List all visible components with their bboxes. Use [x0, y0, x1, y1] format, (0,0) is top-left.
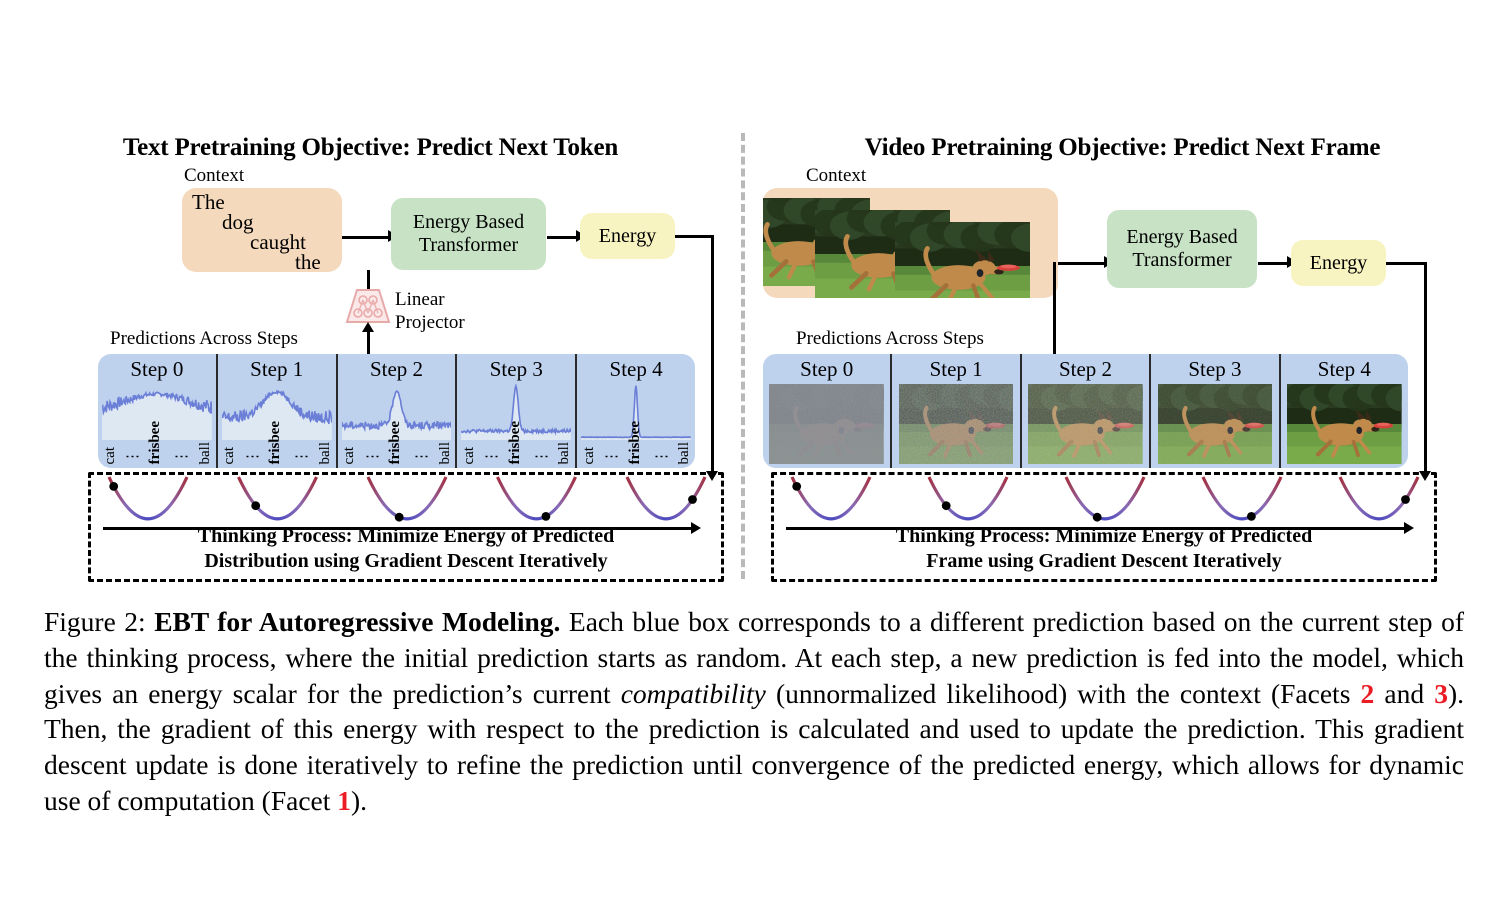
panel-video-pretraining: Video Pretraining Objective: Predict Nex… [741, 0, 1504, 590]
caption-prefix: Figure 2: [44, 606, 154, 637]
text-energy-descent-dot-2 [395, 513, 404, 522]
token-label-1-4: ball [317, 442, 334, 465]
predictions-label-video: Predictions Across Steps [796, 328, 984, 350]
step-box-text-2[interactable]: Step 2cat⋮frisbee⋮ball [336, 354, 456, 468]
token-axis-labels-1: cat⋮frisbee⋮ball [218, 410, 336, 466]
predicted-frame-1 [899, 384, 1014, 464]
steps-to-projector-head [362, 322, 374, 332]
token-axis-labels-4: cat⋮frisbee⋮ball [577, 410, 695, 466]
context-token-0: The [192, 190, 225, 215]
step-box-text-1[interactable]: Step 1cat⋮frisbee⋮ball [216, 354, 336, 468]
step-title-text-3: Step 3 [457, 357, 575, 382]
arrow-context-to-model-line [342, 236, 390, 239]
step-box-video-1[interactable]: Step 1 [890, 354, 1019, 468]
thinking-line-1: Thinking Process: Minimize Energy of Pre… [91, 524, 721, 548]
energy-feedback-h-video [1386, 262, 1426, 265]
projector-label-line-1: Linear [395, 289, 445, 311]
caption-body-3: and [1374, 678, 1434, 709]
step-title-text-1: Step 1 [218, 357, 336, 382]
token-label-2-0: cat [341, 447, 358, 464]
steps-to-model-line-video [1053, 262, 1056, 354]
step-box-video-0[interactable]: Step 0 [763, 354, 890, 468]
token-label-0-0: cat [102, 447, 119, 464]
step-box-video-3[interactable]: Step 3 [1149, 354, 1278, 468]
context-video-frames [763, 188, 1058, 298]
energy-box-label-video: Energy [1310, 252, 1367, 275]
caption-body-5: ). [351, 785, 367, 816]
token-label-1-0: cat [221, 447, 238, 464]
token-axis-labels-2: cat⋮frisbee⋮ball [338, 410, 456, 466]
predicted-frame-0 [769, 384, 884, 464]
token-label-4-3: ⋮ [653, 449, 671, 464]
text-energy-parabola-1 [239, 477, 317, 519]
caption-body-2: (unnormalized likelihood) with the conte… [766, 678, 1361, 709]
video-energy-descent-dot-3 [1247, 512, 1256, 521]
thinking-caption-video: Thinking Process: Minimize Energy of Pre… [774, 524, 1434, 573]
video-energy-parabola-0 [792, 477, 870, 519]
figure-graphic: Text Pretraining Objective: Predict Next… [0, 0, 1504, 590]
step-title-video-3: Step 3 [1151, 357, 1278, 382]
text-energy-descent-dot-4 [688, 495, 697, 504]
context-frame-2 [876, 217, 1049, 298]
token-label-4-2: frisbee [627, 421, 644, 464]
thinking-line-2-video: Frame using Gradient Descent Iteratively [774, 549, 1434, 573]
text-energy-parabola-0 [109, 477, 187, 519]
ebt-line-2-video: Transformer [1126, 249, 1237, 272]
caption-bold-title: EBT for Autoregressive Modeling. [154, 606, 560, 637]
token-axis-labels-0: cat⋮frisbee⋮ball [98, 410, 216, 466]
caption-italic-compatibility: compatibility [621, 678, 766, 709]
text-energy-descent-dot-3 [542, 512, 551, 521]
step-box-text-4[interactable]: Step 4cat⋮frisbee⋮ball [575, 354, 695, 468]
ebt-line-2: Transformer [413, 234, 524, 257]
step-title-video-1: Step 1 [892, 357, 1019, 382]
figure-caption: Figure 2: EBT for Autoregressive Modelin… [44, 604, 1464, 819]
arrow-model-to-energy-line [547, 236, 579, 239]
caption-facet-2: 2 [1361, 678, 1375, 709]
step-title-text-4: Step 4 [577, 357, 695, 382]
caption-facet-3: 3 [1434, 678, 1448, 709]
video-energy-descent-dot-0 [792, 482, 801, 491]
token-label-1-1: ⋮ [244, 449, 262, 464]
energy-feedback-h [675, 235, 713, 238]
step-box-text-0[interactable]: Step 0cat⋮frisbee⋮ball [98, 354, 216, 468]
token-label-2-3: ⋮ [413, 449, 431, 464]
step-title-video-4: Step 4 [1281, 357, 1408, 382]
token-label-0-4: ball [197, 442, 214, 465]
text-energy-parabola-2 [368, 477, 446, 519]
context-box-video [763, 188, 1058, 298]
token-label-2-2: frisbee [387, 421, 404, 464]
ebt-line-1: Energy Based [413, 211, 524, 234]
projector-label-line-2: Projector [395, 312, 465, 334]
thinking-box-video: Thinking Process: Minimize Energy of Pre… [771, 472, 1437, 582]
text-energy-parabola-3 [498, 477, 576, 519]
token-label-4-0: cat [581, 447, 598, 464]
token-label-4-1: ⋮ [603, 449, 621, 464]
predicted-frame-4 [1287, 384, 1402, 464]
panel-text-pretraining: Text Pretraining Objective: Predict Next… [0, 0, 741, 590]
figure-page: Text Pretraining Objective: Predict Next… [0, 0, 1504, 902]
step-box-text-3[interactable]: Step 3cat⋮frisbee⋮ball [455, 354, 575, 468]
steps-strip-text: Step 0cat⋮frisbee⋮ballStep 1cat⋮frisbee⋮… [98, 354, 695, 468]
predicted-frame-3 [1158, 384, 1273, 464]
steps-strip-video: Step 0Step 1Step 2Step 3Step 4 [763, 354, 1408, 468]
thinking-line-2: Distribution using Gradient Descent Iter… [91, 549, 721, 573]
video-energy-descent-dot-2 [1093, 513, 1102, 522]
context-box-text: The dog caught the [182, 188, 342, 272]
video-energy-descent-dot-4 [1401, 495, 1410, 504]
context-token-1: dog [222, 210, 254, 235]
text-energy-descent-dot-1 [251, 501, 260, 510]
energy-based-transformer-box: Energy Based Transformer [391, 198, 546, 270]
step-title-text-0: Step 0 [98, 357, 216, 382]
arrow-context-to-model-line-video [1058, 262, 1106, 265]
thinking-box-text: Thinking Process: Minimize Energy of Pre… [88, 472, 724, 582]
energy-box-video: Energy [1291, 240, 1386, 286]
predicted-frame-2 [1028, 384, 1143, 464]
token-label-0-1: ⋮ [124, 449, 142, 464]
token-label-2-1: ⋮ [364, 449, 382, 464]
energy-box-label: Energy [599, 225, 656, 248]
text-energy-descent-dot-0 [109, 482, 118, 491]
token-label-1-2: frisbee [267, 421, 284, 464]
token-label-3-2: frisbee [507, 421, 524, 464]
video-energy-parabola-2 [1066, 477, 1144, 519]
token-label-3-4: ball [556, 442, 573, 465]
step-box-video-2[interactable]: Step 2 [1020, 354, 1149, 468]
thinking-caption-text: Thinking Process: Minimize Energy of Pre… [91, 524, 721, 573]
context-label-video: Context [806, 165, 866, 187]
token-label-0-3: ⋮ [173, 449, 191, 464]
token-label-1-3: ⋮ [293, 449, 311, 464]
energy-feedback-v [711, 235, 714, 475]
step-title-video-0: Step 0 [763, 357, 890, 382]
step-title-video-2: Step 2 [1022, 357, 1149, 382]
caption-facet-1: 1 [337, 785, 351, 816]
context-token-3: the [295, 250, 321, 275]
energy-based-transformer-box-video: Energy Based Transformer [1107, 210, 1257, 288]
video-energy-parabola-3 [1203, 477, 1281, 519]
token-label-2-4: ball [437, 442, 454, 465]
steps-to-projector-line [367, 330, 370, 354]
token-label-0-2: frisbee [147, 421, 164, 464]
video-energy-descent-dot-1 [942, 501, 951, 510]
ebt-line-1-video: Energy Based [1126, 226, 1237, 249]
step-title-text-2: Step 2 [338, 357, 456, 382]
token-label-3-0: cat [461, 447, 478, 464]
token-label-4-4: ball [676, 442, 693, 465]
step-box-video-4[interactable]: Step 4 [1279, 354, 1408, 468]
panel-title-text: Text Pretraining Objective: Predict Next… [0, 134, 741, 162]
arrow-model-to-energy-line-video [1258, 262, 1290, 265]
token-axis-labels-3: cat⋮frisbee⋮ball [457, 410, 575, 466]
energy-box: Energy [580, 213, 675, 259]
token-label-3-1: ⋮ [483, 449, 501, 464]
context-label-text: Context [184, 165, 244, 187]
token-label-3-3: ⋮ [533, 449, 551, 464]
panel-title-video: Video Pretraining Objective: Predict Nex… [741, 134, 1504, 162]
video-energy-parabola-1 [929, 477, 1007, 519]
predictions-label-text: Predictions Across Steps [110, 328, 298, 350]
linear-projector-icon [345, 288, 391, 324]
energy-feedback-v-video [1424, 262, 1427, 475]
thinking-line-1-video: Thinking Process: Minimize Energy of Pre… [774, 524, 1434, 548]
